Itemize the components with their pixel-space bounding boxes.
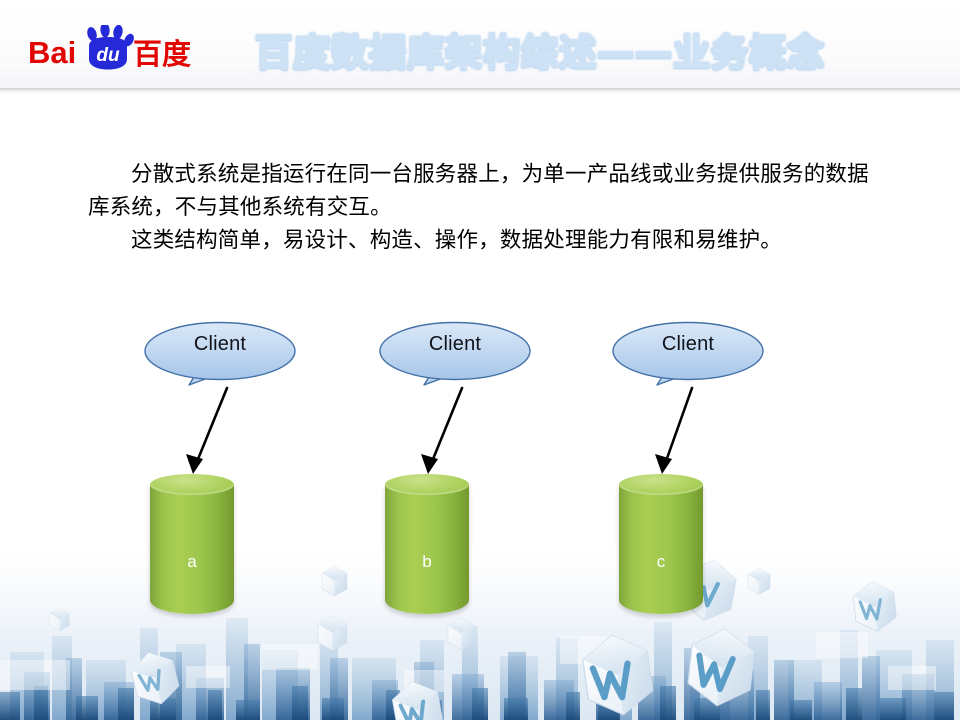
slide-root: 分散式系统是指运行在同一台服务器上，为单一产品线或业务提供服务的数据库系统，不与… — [0, 0, 960, 720]
cylinder-top-b — [385, 474, 469, 495]
cylinder-body-b — [385, 484, 469, 614]
body-paragraph-2: 这类结构简单，易设计、构造、操作，数据处理能力有限和易维护。 — [88, 224, 888, 257]
client-callout-c[interactable]: Client — [612, 322, 764, 382]
baidu-logo[interactable]: du Bai 百度 — [26, 25, 202, 73]
baidu-cjk-text: 百度 — [133, 37, 191, 71]
page-title: 百度数据库架构综述——业务概念 — [255, 24, 915, 80]
page-title-text: 百度数据库架构综述——业务概念 — [255, 34, 825, 71]
cylinder-body-a — [150, 484, 234, 614]
architecture-diagram: Client a — [0, 0, 960, 720]
client-callout-a[interactable]: Client — [144, 322, 296, 382]
cylinder-top-c — [619, 474, 703, 495]
cylinder-body-c — [619, 484, 703, 614]
arrow-client-to-db-a[interactable] — [180, 382, 250, 482]
database-cylinder-a[interactable]: a — [150, 474, 234, 614]
database-cylinder-b[interactable]: b — [385, 474, 469, 614]
arrow-client-to-db-b[interactable] — [415, 382, 485, 482]
body-paragraph-1: 分散式系统是指运行在同一台服务器上，为单一产品线或业务提供服务的数据库系统，不与… — [88, 158, 888, 224]
baidu-du-text: du — [96, 45, 120, 66]
baidu-bai-text: Bai — [28, 35, 76, 70]
database-cylinder-c[interactable]: c — [619, 474, 703, 614]
slide-body-text: 分散式系统是指运行在同一台服务器上，为单一产品线或业务提供服务的数据库系统，不与… — [88, 158, 888, 257]
cityscape-band — [0, 540, 960, 720]
client-callout-b[interactable]: Client — [379, 322, 531, 382]
arrow-client-to-db-c[interactable] — [648, 382, 718, 482]
cylinder-top-a — [150, 474, 234, 495]
